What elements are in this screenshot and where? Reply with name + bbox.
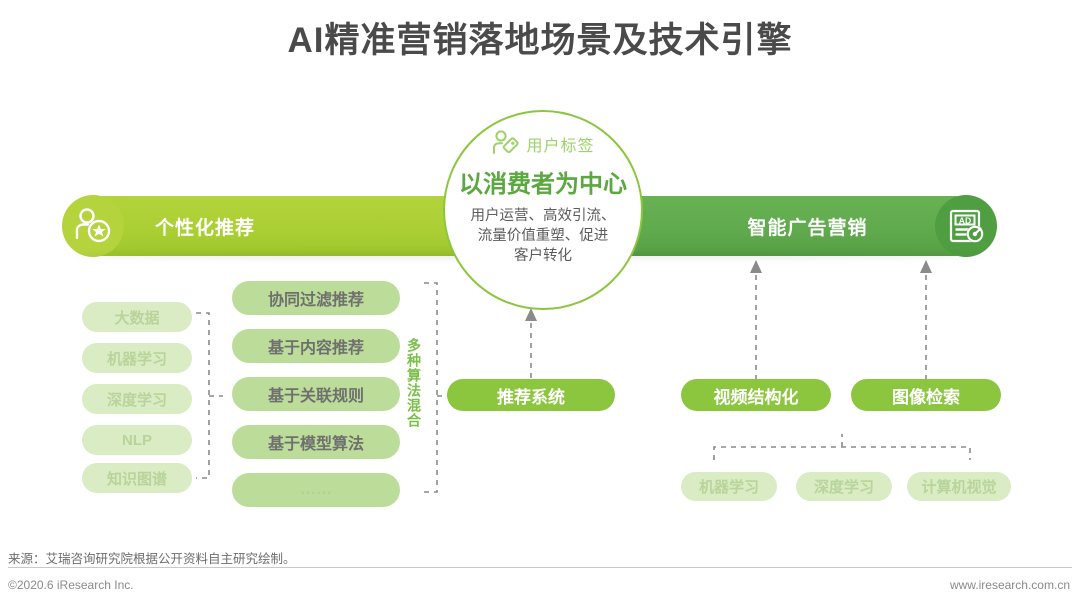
left-tech-tag[interactable]: 大数据 — [82, 302, 192, 332]
algorithm-tag[interactable]: 基于内容推荐 — [232, 329, 400, 363]
bar-left-label: 个性化推荐 — [70, 196, 490, 256]
scene-node-image-retrieval[interactable]: 图像检索 — [851, 379, 1001, 411]
arrow-head-image — [920, 260, 932, 273]
center-tag-row: 用户标签 — [491, 128, 594, 160]
algorithm-group-label: 多种算法混合 — [404, 338, 424, 428]
right-tech-tag[interactable]: 机器学习 — [681, 472, 777, 501]
left-tech-tag[interactable]: 深度学习 — [82, 384, 192, 414]
bar-personalized-recommendation: 个性化推荐 — [70, 196, 490, 256]
left-tech-tag[interactable]: NLP — [82, 425, 192, 455]
source-note: 来源：艾瑞咨询研究院根据公开资料自主研究绘制。 — [8, 548, 296, 567]
center-tag-label: 用户标签 — [526, 132, 594, 156]
arrow-head-recommend — [525, 308, 537, 321]
algorithm-tag[interactable]: 基于模型算法 — [232, 425, 400, 459]
right-tech-tag[interactable]: 计算机视觉 — [907, 472, 1011, 501]
svg-text:AD: AD — [959, 215, 971, 225]
bar-right-label: 智能广告营销 — [600, 196, 985, 256]
bar-intelligent-ad-marketing: 智能广告营销 — [600, 196, 985, 256]
right-tech-tag[interactable]: 深度学习 — [796, 472, 892, 501]
website-url: www.iresearch.com.cn — [950, 578, 1070, 592]
scene-node-recommend-system[interactable]: 推荐系统 — [447, 379, 615, 411]
person-star-icon — [62, 195, 124, 257]
center-description: 用户运营、高效引流、 流量价值重塑、促进 客户转化 — [457, 206, 629, 266]
footer-divider — [8, 567, 1072, 568]
page-title: AI精准营销落地场景及技术引擎 — [0, 12, 1080, 63]
copyright-text: ©2020.6 iResearch Inc. — [8, 578, 134, 592]
center-desc-line-1: 用户运营、高效引流、 — [457, 206, 629, 226]
left-tech-tag[interactable]: 机器学习 — [82, 343, 192, 373]
scene-node-video-structuring[interactable]: 视频结构化 — [681, 379, 831, 411]
ad-target-icon: AD — [935, 195, 997, 257]
infographic-canvas: AI精准营销落地场景及技术引擎 — [0, 0, 1080, 607]
center-heading: 以消费者为中心 — [459, 164, 627, 199]
user-tag-icon — [491, 129, 521, 159]
center-desc-line-3: 客户转化 — [457, 246, 629, 266]
arrow-head-video — [750, 260, 762, 273]
center-desc-line-2: 流量价值重塑、促进 — [457, 226, 629, 246]
left-tech-tag[interactable]: 知识图谱 — [82, 463, 192, 493]
center-consumer-circle: 用户标签 以消费者为中心 用户运营、高效引流、 流量价值重塑、促进 客户转化 — [443, 110, 643, 310]
algorithm-tag[interactable]: …… — [232, 473, 400, 507]
algorithm-tag[interactable]: 协同过滤推荐 — [232, 281, 400, 315]
algorithm-tag[interactable]: 基于关联规则 — [232, 377, 400, 411]
